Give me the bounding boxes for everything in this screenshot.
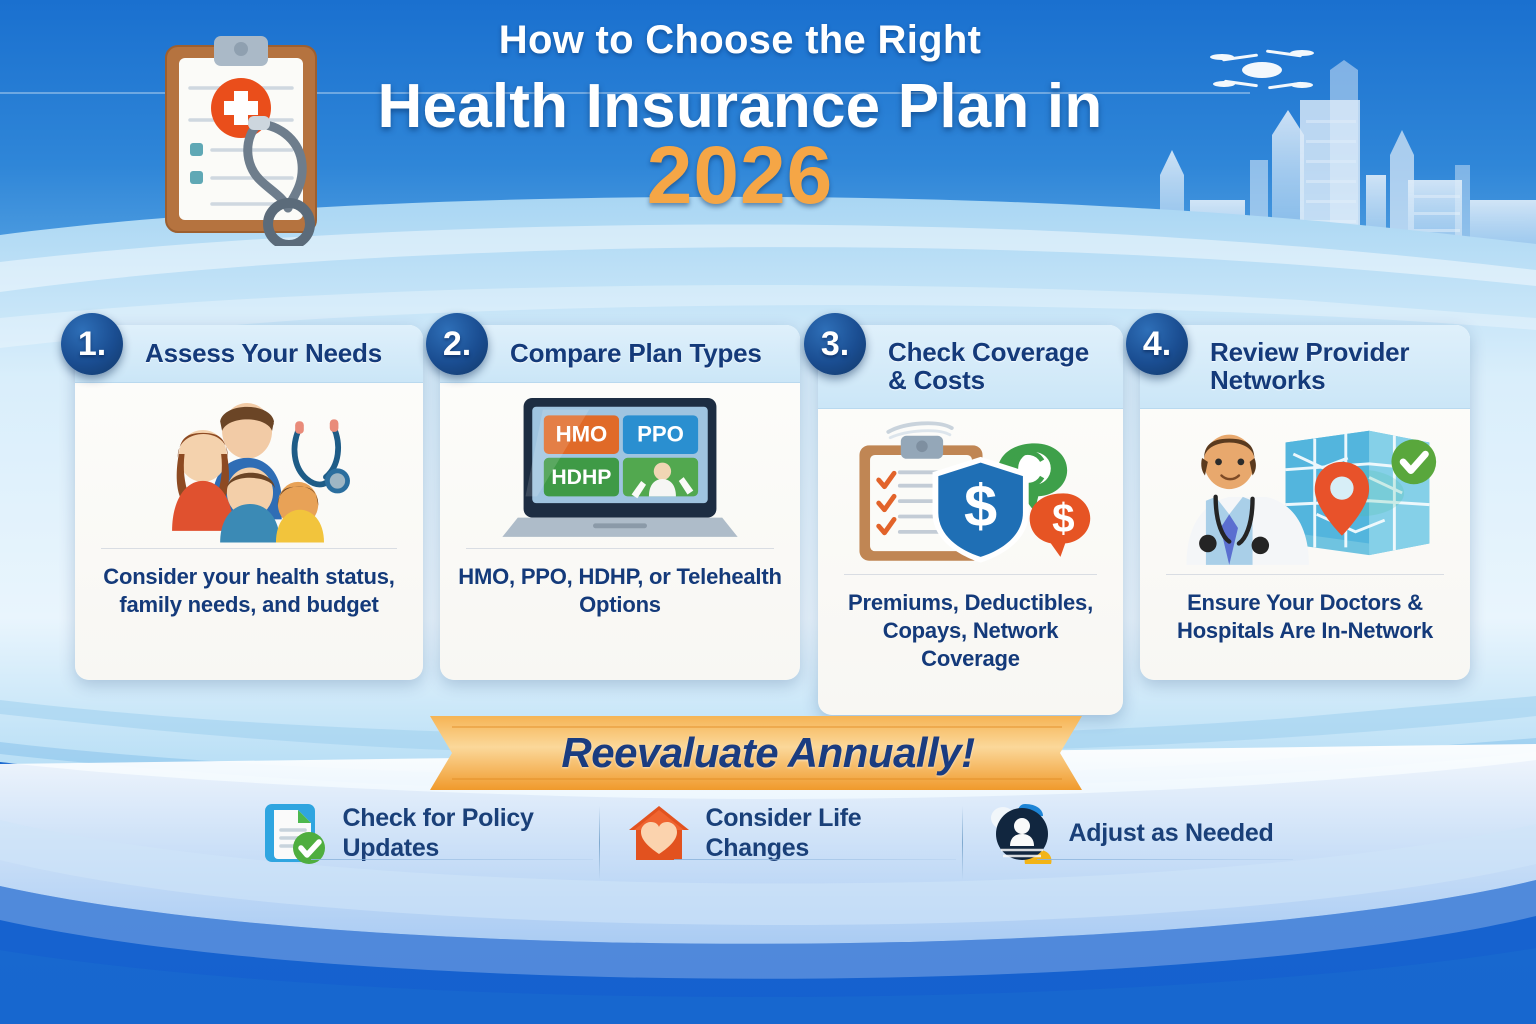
footer-item-life-changes[interactable]: Consider Life Changes	[600, 800, 962, 866]
step-title-3: Check Coverage & Costs	[888, 339, 1113, 394]
step-header-4: Review Provider Networks	[1140, 325, 1470, 409]
svg-text:HDHP: HDHP	[551, 465, 611, 488]
step-header-2: Compare Plan Types	[440, 325, 800, 383]
check-badge-icon	[1391, 439, 1436, 484]
step-number-2: 2.	[426, 313, 488, 375]
ribbon-banner: Reevaluate Annually!	[0, 710, 1536, 796]
step-desc-1: Consider your health status, family need…	[75, 549, 423, 637]
step-number-1: 1.	[61, 313, 123, 375]
doctor-map-pin-illustration	[1169, 418, 1441, 566]
footer-underline-2	[674, 859, 956, 860]
svg-text:$: $	[964, 472, 997, 539]
svg-text:$: $	[1052, 495, 1074, 541]
header: How to Choose the Right Health Insurance…	[0, 0, 1536, 300]
step-art-4	[1140, 409, 1470, 574]
laptop-plan-tiles-illustration: HMO PPO HDHP	[485, 386, 755, 546]
step-title-4: Review Provider Networks	[1210, 339, 1460, 394]
step-number-4: 4.	[1126, 313, 1188, 375]
step-card-1[interactable]: 1. Assess Your Needs	[75, 325, 423, 680]
step-card-2[interactable]: 2. Compare Plan Types HMO PPO HDHP	[440, 325, 800, 680]
step-art-2: HMO PPO HDHP	[440, 383, 800, 548]
step-desc-3: Premiums, Deductibles, Copays, Network C…	[818, 575, 1123, 691]
step-art-1	[75, 383, 423, 548]
step-desc-2: HMO, PPO, HDHP, or Telehealth Options	[440, 549, 800, 637]
clipboard-medical-icon	[152, 28, 352, 246]
document-check-icon	[263, 800, 329, 866]
title-line-1: How to Choose the Right	[330, 18, 1150, 62]
title-block: How to Choose the Right Health Insurance…	[330, 18, 1150, 217]
steps-card-row: 1. Assess Your Needs	[0, 305, 1536, 705]
footer-label-adjust: Adjust as Needed	[1069, 818, 1274, 848]
step-card-3[interactable]: 3. Check Coverage & Costs	[818, 325, 1123, 715]
footer-underline-3	[1037, 859, 1294, 860]
svg-text:PPO: PPO	[637, 421, 684, 446]
step-card-4[interactable]: 4. Review Provider Networks	[1140, 325, 1470, 680]
step-title-2: Compare Plan Types	[510, 340, 762, 367]
footer-underline-1	[311, 859, 593, 860]
footer-tips: Check for Policy Updates Consider Life C…	[0, 800, 1536, 910]
ribbon-text: Reevaluate Annually!	[0, 710, 1536, 796]
footer-label-life-changes: Consider Life Changes	[706, 803, 936, 863]
house-heart-icon	[626, 800, 692, 866]
clipboard-shield-money-illustration: $ $	[846, 414, 1096, 569]
step-desc-4: Ensure Your Doctors & Hospitals Are In-N…	[1140, 575, 1470, 663]
title-year: 2026	[330, 135, 1150, 217]
user-badge-icon	[989, 800, 1055, 866]
step-number-3: 3.	[804, 313, 866, 375]
step-art-3: $ $	[818, 409, 1123, 574]
footer-label-policy-updates: Check for Policy Updates	[343, 803, 573, 863]
footer-item-adjust[interactable]: Adjust as Needed	[963, 800, 1300, 866]
step-header-1: Assess Your Needs	[75, 325, 423, 383]
footer-item-policy-updates[interactable]: Check for Policy Updates	[237, 800, 599, 866]
family-stethoscope-illustration	[124, 386, 374, 546]
step-title-1: Assess Your Needs	[145, 340, 382, 367]
